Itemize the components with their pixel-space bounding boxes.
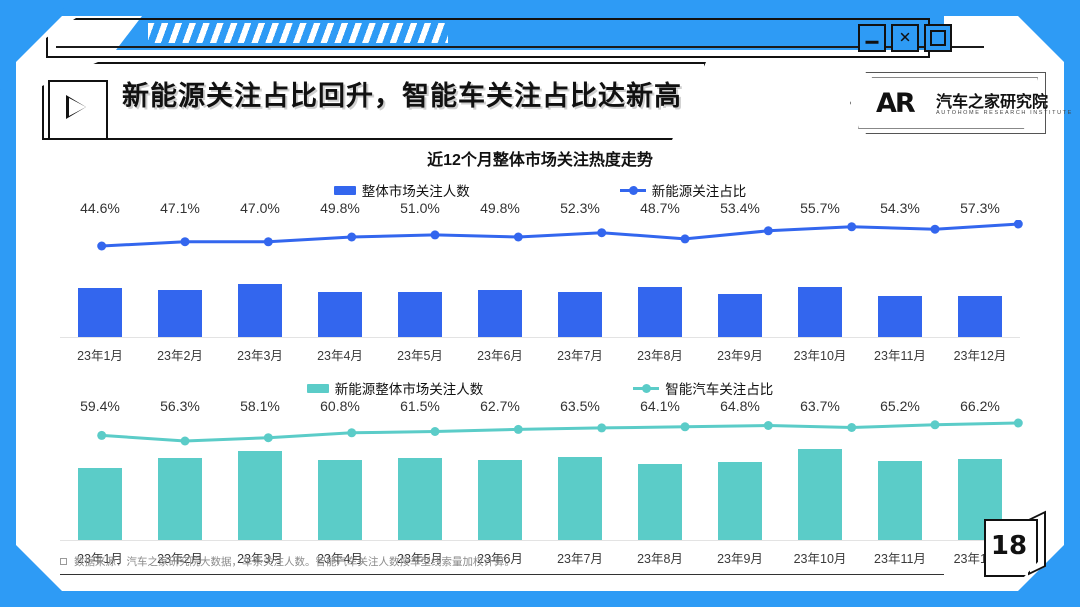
bar xyxy=(958,296,1003,338)
charts-area: 近12个月整体市场关注热度走势 整体市场关注人数 新能源关注占比 44.6%47… xyxy=(60,144,1020,554)
chart-top xyxy=(60,220,1020,338)
bar xyxy=(158,290,203,338)
data-value-label: 51.0% xyxy=(380,200,460,216)
bar xyxy=(238,284,283,338)
panel-cut-bl xyxy=(16,545,62,591)
data-value-label: 64.1% xyxy=(620,398,700,414)
x-axis-label: 23年5月 xyxy=(380,345,460,364)
x-axis-label: 23年2月 xyxy=(140,345,220,364)
legend-label-overall-bar: 整体市场关注人数 xyxy=(362,180,470,200)
chart-bottom xyxy=(60,418,1020,541)
legend-bottom: 新能源整体市场关注人数 智能汽车关注占比 xyxy=(60,378,1020,398)
bar xyxy=(558,457,603,541)
footnote-text: 数据来源：汽车之家研究院大数据，车系关注人数。智能汽车关注人数按车型线索量加权计… xyxy=(74,554,515,569)
bar-cell xyxy=(60,220,140,338)
minimize-icon[interactable] xyxy=(858,24,886,52)
legend-item-nev-line: 新能源关注占比 xyxy=(620,180,747,200)
legend-line-swatch-blue xyxy=(620,189,646,192)
bar-cell xyxy=(380,220,460,338)
data-value-label: 57.3% xyxy=(940,200,1020,216)
data-value-label: 62.7% xyxy=(460,398,540,414)
data-value-label: 48.7% xyxy=(620,200,700,216)
bar xyxy=(878,461,923,541)
decor-header-frame xyxy=(46,18,926,54)
bar-cell xyxy=(940,220,1020,338)
bar-cell xyxy=(380,418,460,541)
x-axis-label: 23年6月 xyxy=(460,345,540,364)
x-axis-label: 23年9月 xyxy=(700,345,780,364)
x-axis-label: 23年7月 xyxy=(540,345,620,364)
page-title: 新能源关注占比回升，智能车关注占比达新高 xyxy=(122,74,682,113)
bar-cell xyxy=(60,418,140,541)
footnote: 数据来源：汽车之家研究院大数据，车系关注人数。智能汽车关注人数按车型线索量加权计… xyxy=(60,554,944,569)
x-labels-top: 23年1月23年2月23年3月23年4月23年5月23年6月23年7月23年8月… xyxy=(60,345,1020,364)
bars-bottom xyxy=(60,418,1020,541)
data-value-label: 61.5% xyxy=(380,398,460,414)
data-value-label: 53.4% xyxy=(700,200,780,216)
bar-cell xyxy=(620,220,700,338)
legend-item-overall-bar: 整体市场关注人数 xyxy=(334,180,470,200)
value-labels-top: 44.6%47.1%47.0%49.8%51.0%49.8%52.3%48.7%… xyxy=(60,200,1020,216)
data-value-label: 66.2% xyxy=(940,398,1020,414)
x-axis-label: 23年11月 xyxy=(860,345,940,364)
slide-root: ✕ 新能源关注占比回升，智能车关注占比达新高 AR 汽车之家研究院 AUTOHO… xyxy=(0,0,1080,607)
bar xyxy=(478,290,523,338)
maximize-icon[interactable] xyxy=(924,24,952,52)
legend-bar-swatch-blue xyxy=(334,186,356,195)
slide-content-panel: ✕ 新能源关注占比回升，智能车关注占比达新高 AR 汽车之家研究院 AUTOHO… xyxy=(16,16,1064,591)
close-icon[interactable]: ✕ xyxy=(891,24,919,52)
bar-cell xyxy=(860,418,940,541)
data-value-label: 64.8% xyxy=(700,398,780,414)
data-value-label: 52.3% xyxy=(540,200,620,216)
bar-cell xyxy=(540,418,620,541)
bar-cell xyxy=(300,220,380,338)
bar xyxy=(478,460,523,541)
data-value-label: 63.5% xyxy=(540,398,620,414)
legend-item-smart-line: 智能汽车关注占比 xyxy=(633,378,773,398)
bar xyxy=(318,460,363,541)
bar-cell xyxy=(860,220,940,338)
data-value-label: 59.4% xyxy=(60,398,140,414)
data-value-label: 47.1% xyxy=(140,200,220,216)
bar xyxy=(638,464,683,541)
bar-cell xyxy=(780,220,860,338)
bar xyxy=(78,468,123,541)
data-value-label: 56.3% xyxy=(140,398,220,414)
bar xyxy=(878,296,923,338)
bar xyxy=(398,292,443,338)
brand-logo: AR 汽车之家研究院 AUTOHOME RESEARCH INSTITUTE xyxy=(850,72,1046,134)
bar-cell xyxy=(700,220,780,338)
data-value-label: 63.7% xyxy=(780,398,860,414)
bar-cell xyxy=(140,418,220,541)
legend-line-swatch-teal xyxy=(633,387,659,390)
bar xyxy=(798,449,843,541)
bar-cell xyxy=(220,220,300,338)
logo-mark: AR xyxy=(876,88,914,119)
bars-top xyxy=(60,220,1020,338)
value-labels-bottom: 59.4%56.3%58.1%60.8%61.5%62.7%63.5%64.1%… xyxy=(60,398,1020,414)
bar xyxy=(798,287,843,338)
bar-cell xyxy=(460,418,540,541)
footnote-bullet-icon xyxy=(60,558,67,565)
bar xyxy=(238,451,283,541)
data-value-label: 44.6% xyxy=(60,200,140,216)
bar xyxy=(558,292,603,338)
legend-bar-swatch-teal xyxy=(307,384,329,393)
data-value-label: 49.8% xyxy=(460,200,540,216)
bar-cell xyxy=(220,418,300,541)
x-axis-label: 23年8月 xyxy=(620,345,700,364)
data-value-label: 60.8% xyxy=(300,398,380,414)
data-value-label: 65.2% xyxy=(860,398,940,414)
logo-name-en: AUTOHOME RESEARCH INSTITUTE xyxy=(936,110,1073,116)
x-axis-label: 23年12月 xyxy=(940,345,1020,364)
legend-item-nev-bar: 新能源整体市场关注人数 xyxy=(307,378,484,398)
bar-cell xyxy=(140,220,220,338)
chart-title: 近12个月整体市场关注热度走势 xyxy=(60,144,1020,170)
legend-label-nev-bar: 新能源整体市场关注人数 xyxy=(335,378,484,398)
x-axis-label: 23年1月 xyxy=(60,345,140,364)
logo-name-cn: 汽车之家研究院 xyxy=(936,88,1048,112)
bar-cell xyxy=(540,220,620,338)
x-axis-label: 23年4月 xyxy=(300,345,380,364)
bar-cell xyxy=(620,418,700,541)
legend-label-nev-line: 新能源关注占比 xyxy=(652,180,747,200)
bar-cell xyxy=(300,418,380,541)
bar-cell xyxy=(700,418,780,541)
bar-cell xyxy=(460,220,540,338)
data-value-label: 49.8% xyxy=(300,200,380,216)
close-glyph: ✕ xyxy=(899,31,912,46)
panel-cut-tr xyxy=(1018,16,1064,62)
axis-bottom xyxy=(60,540,1020,541)
bar xyxy=(398,458,443,541)
bar xyxy=(718,462,763,541)
data-value-label: 55.7% xyxy=(780,200,860,216)
footnote-rule xyxy=(60,574,944,576)
bar xyxy=(318,292,363,338)
bar xyxy=(78,288,123,338)
data-value-label: 47.0% xyxy=(220,200,300,216)
x-axis-label: 23年10月 xyxy=(780,345,860,364)
page-number-text: 18 xyxy=(984,519,1034,573)
bar-cell xyxy=(780,418,860,541)
x-axis-label: 23年3月 xyxy=(220,345,300,364)
data-value-label: 58.1% xyxy=(220,398,300,414)
bar xyxy=(718,294,763,338)
bar xyxy=(638,287,683,338)
page-number-badge: 18 xyxy=(984,515,1046,577)
window-controls: ✕ xyxy=(858,24,952,52)
play-triangle-icon xyxy=(66,95,88,121)
legend-label-smart-line: 智能汽车关注占比 xyxy=(665,378,773,398)
legend-top: 整体市场关注人数 新能源关注占比 xyxy=(60,180,1020,200)
axis-top xyxy=(60,337,1020,338)
bar xyxy=(158,458,203,541)
data-value-label: 54.3% xyxy=(860,200,940,216)
